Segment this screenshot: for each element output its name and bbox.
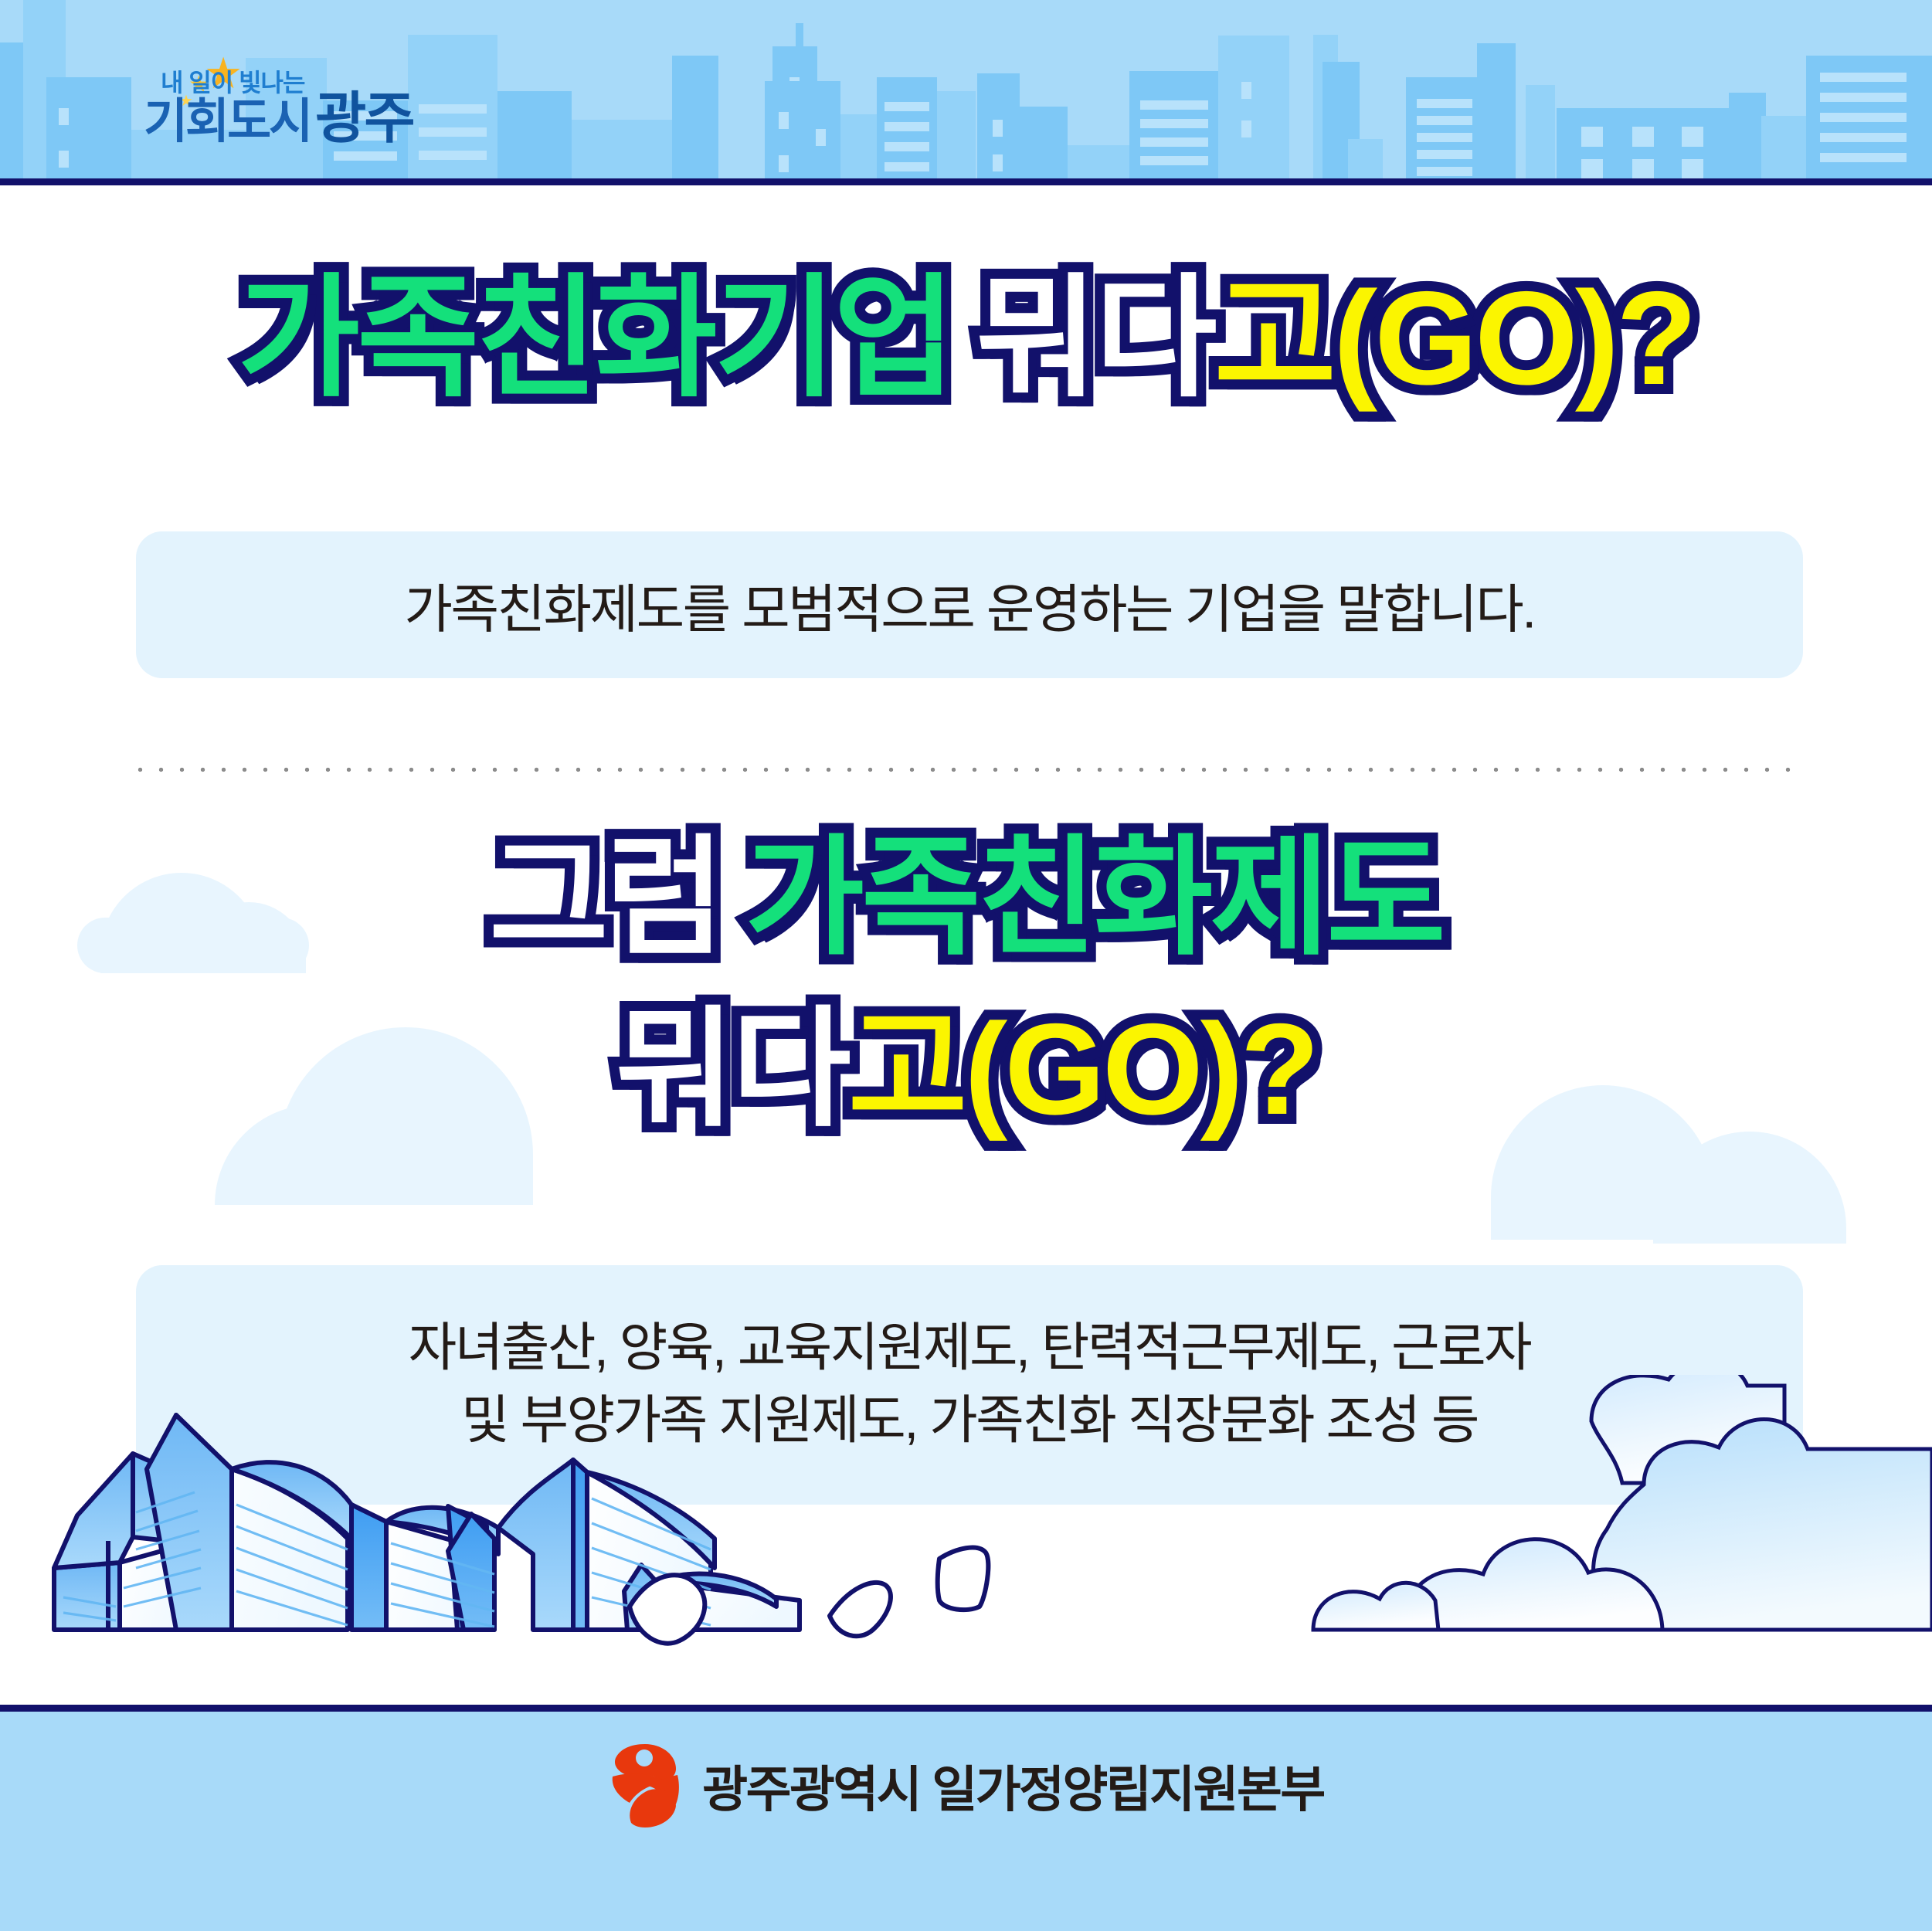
header-building: [1348, 139, 1383, 185]
header-building: [1729, 93, 1766, 185]
footer-bar: 광주광역시 일가정양립지원본부: [0, 1705, 1932, 1931]
gwangju-logo: ★ ★ ★ 내 일이 빛나는 기회도시광주: [144, 57, 406, 150]
footer-organization: 광주광역시 일가정양립지원본부: [702, 1750, 1324, 1821]
header-building: [765, 81, 840, 185]
header-building: [1557, 108, 1730, 185]
header-building: [0, 42, 23, 185]
floating-paper: [938, 1548, 989, 1610]
floating-paper: [830, 1583, 891, 1636]
header-building: [408, 35, 497, 185]
header-building: [1761, 116, 1806, 185]
title-part-go: 고(GO)?: [1214, 272, 1694, 405]
header-building: [1477, 43, 1516, 185]
cloud-shape: [1313, 1583, 1438, 1630]
header-building: [1129, 71, 1218, 185]
header-building: [796, 23, 803, 54]
illustration-svg: [0, 1375, 1932, 1707]
header-banner: ★ ★ ★ 내 일이 빛나는 기회도시광주: [0, 0, 1932, 185]
header-building: [1806, 56, 1932, 185]
logo-brand: 기회도시: [144, 95, 311, 148]
examples-line-1: 자녀출산, 양육, 교육지원제도, 탄력적근무제도, 근로자: [136, 1312, 1803, 1385]
header-building: [877, 77, 937, 185]
header-building: [937, 91, 976, 185]
header-building: [977, 73, 1020, 185]
header-building: [1218, 36, 1289, 185]
secondary-title-line1: 그럼가족친화제도: [0, 833, 1932, 962]
header-building: [1406, 77, 1482, 185]
dotted-divider: [130, 767, 1798, 772]
title-part-company: 가족친화기업: [238, 272, 952, 405]
title2-part-go: 고(GO)?: [848, 1004, 1316, 1134]
header-building: [572, 120, 672, 185]
title-part-what: 뭐다: [976, 272, 1214, 405]
header-building: [1068, 145, 1129, 185]
definition-text: 가족친화제도를 모범적으로 운영하는 기업을 말합니다.: [136, 567, 1803, 643]
bottom-illustration: [0, 1375, 1932, 1707]
header-building: [672, 56, 718, 185]
header-building: [1526, 85, 1555, 185]
header-building: [497, 91, 572, 185]
secondary-title-line2: 뭐다고(GO)?: [0, 1004, 1932, 1134]
footer-content: 광주광역시 일가정양립지원본부: [608, 1741, 1324, 1831]
person-flower-icon: [608, 1741, 682, 1831]
logo-wordmark: 기회도시광주: [144, 91, 413, 147]
poster-canvas: ★ ★ ★ 내 일이 빛나는 기회도시광주 가족친화기업뭐다고(GO)? 가족친…: [0, 0, 1932, 1931]
definition-box: 가족친화제도를 모범적으로 운영하는 기업을 말합니다.: [136, 531, 1803, 678]
title2-part-then: 그럼: [489, 833, 722, 962]
header-building: [46, 77, 131, 185]
title2-part-what: 뭐다: [616, 1004, 848, 1134]
logo-city: 광주: [315, 88, 413, 150]
header-building: [1020, 107, 1068, 185]
title2-part-system: 가족친화제도: [745, 833, 1442, 962]
main-title: 가족친화기업뭐다고(GO)?: [0, 272, 1932, 405]
